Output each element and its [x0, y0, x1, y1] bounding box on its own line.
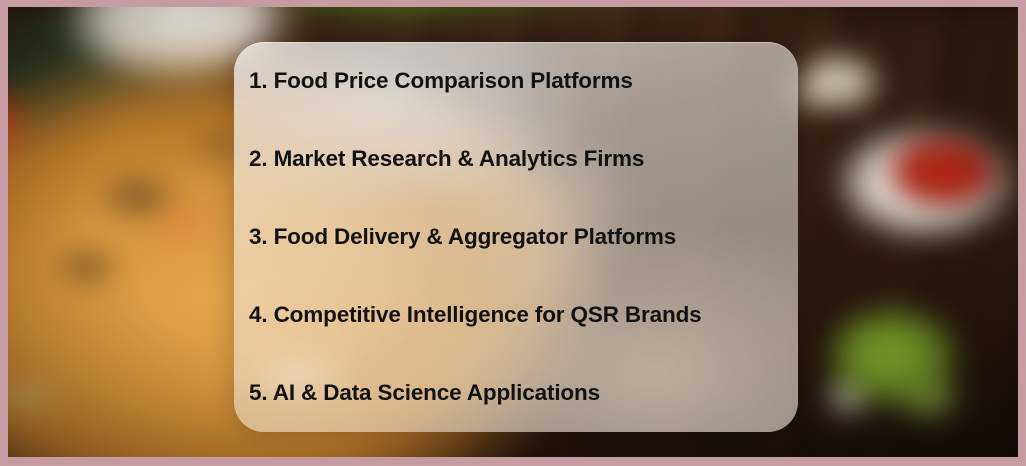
frosted-glass-card: 1. Food Price Comparison Platforms 2. Ma… — [234, 42, 798, 432]
list-item: 1. Food Price Comparison Platforms — [249, 68, 774, 94]
numbered-list: 1. Food Price Comparison Platforms 2. Ma… — [234, 42, 798, 432]
screenshot-root: 1. Food Price Comparison Platforms 2. Ma… — [0, 0, 1026, 466]
list-item: 5. AI & Data Science Applications — [249, 380, 774, 406]
list-item: 3. Food Delivery & Aggregator Platforms — [249, 224, 774, 250]
list-item: 4. Competitive Intelligence for QSR Bran… — [249, 302, 774, 328]
list-item: 2. Market Research & Analytics Firms — [249, 146, 774, 172]
